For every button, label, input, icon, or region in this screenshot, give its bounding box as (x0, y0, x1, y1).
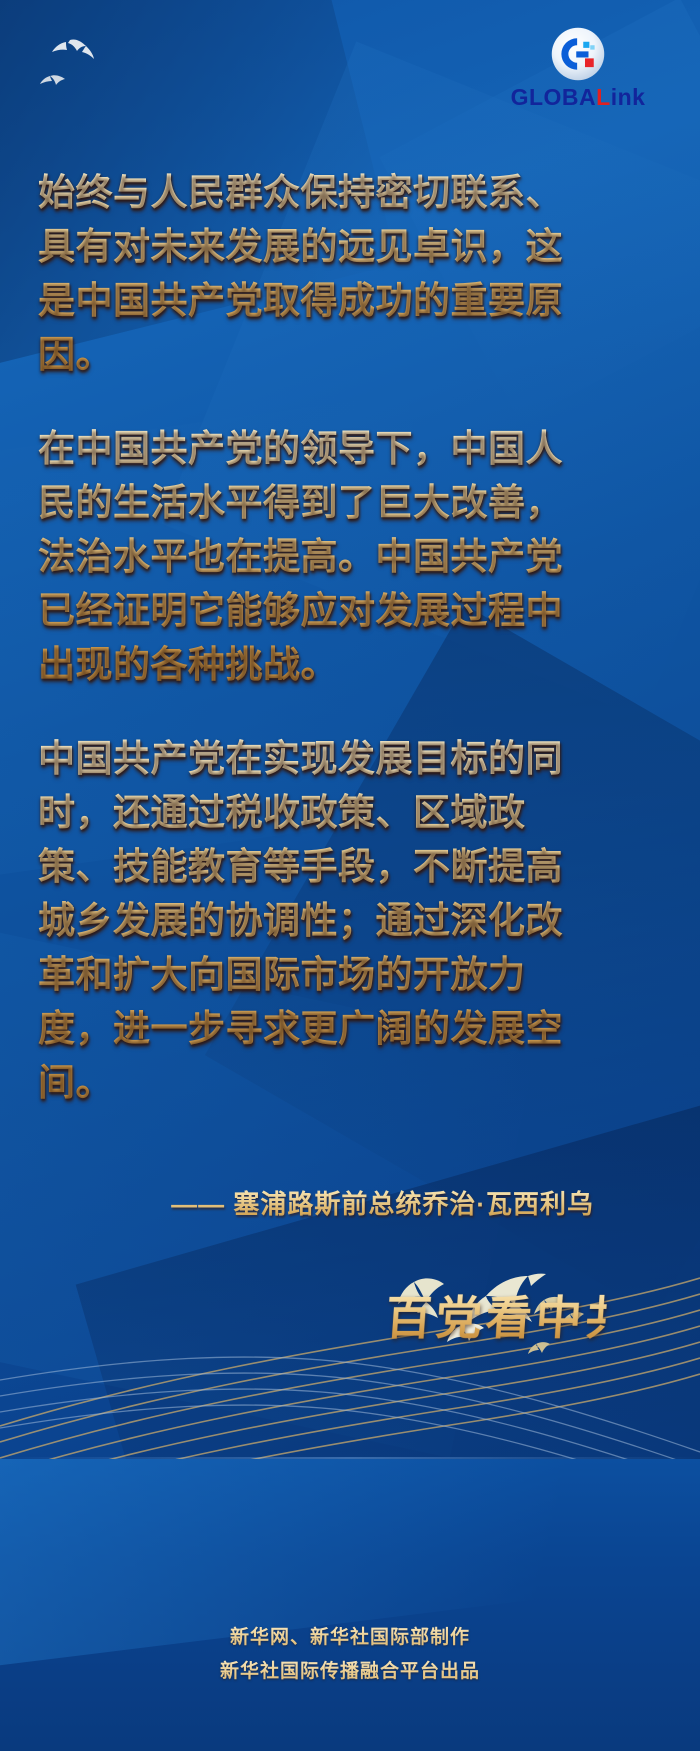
quote-body: 始终与人民群众保持密切联系、具有对未来发展的远见卓识，这是中国共产党取得成功的重… (38, 166, 594, 1110)
brand-accent-letter: L (596, 84, 611, 110)
seal-text: 百党看中共 (384, 1282, 609, 1348)
quote-attribution: —— 塞浦路斯前总统乔治·瓦西利乌 (38, 1184, 594, 1221)
brand-part-2: ink (611, 84, 646, 110)
globalink-logo[interactable]: GLOBALink (498, 26, 658, 109)
footer-credits: 新华网、新华社国际部制作 新华社国际传播融合平台出品 (0, 1621, 700, 1689)
globalink-logo-icon (550, 26, 606, 82)
brand-part-1: GLOBA (511, 84, 597, 110)
globalink-wordmark: GLOBALink (498, 86, 658, 109)
poster-canvas: GLOBALink 始终与人民群众保持密切联系、具有对未来发展的远见卓识，这是中… (0, 0, 700, 1751)
footer-band: 新华网、新华社国际部制作 新华社国际传播融合平台出品 (0, 1459, 700, 1751)
quote-paragraph: 始终与人民群众保持密切联系、具有对未来发展的远见卓识，这是中国共产党取得成功的重… (38, 166, 594, 382)
flying-birds-icon (36, 32, 146, 102)
calligraphy-seal: 百党看中共 (386, 1282, 606, 1360)
quote-paragraph: 中国共产党在实现发展目标的同时，还通过税收政策、区域政策、技能教育等手段，不断提… (38, 732, 594, 1110)
footer-line: 新华网、新华社国际部制作 (0, 1621, 700, 1655)
footer-line: 新华社国际传播融合平台出品 (0, 1655, 700, 1689)
quote-paragraph: 在中国共产党的领导下，中国人民的生活水平得到了巨大改善，法治水平也在提高。中国共… (38, 422, 594, 692)
poster-header: GLOBALink (0, 0, 700, 140)
